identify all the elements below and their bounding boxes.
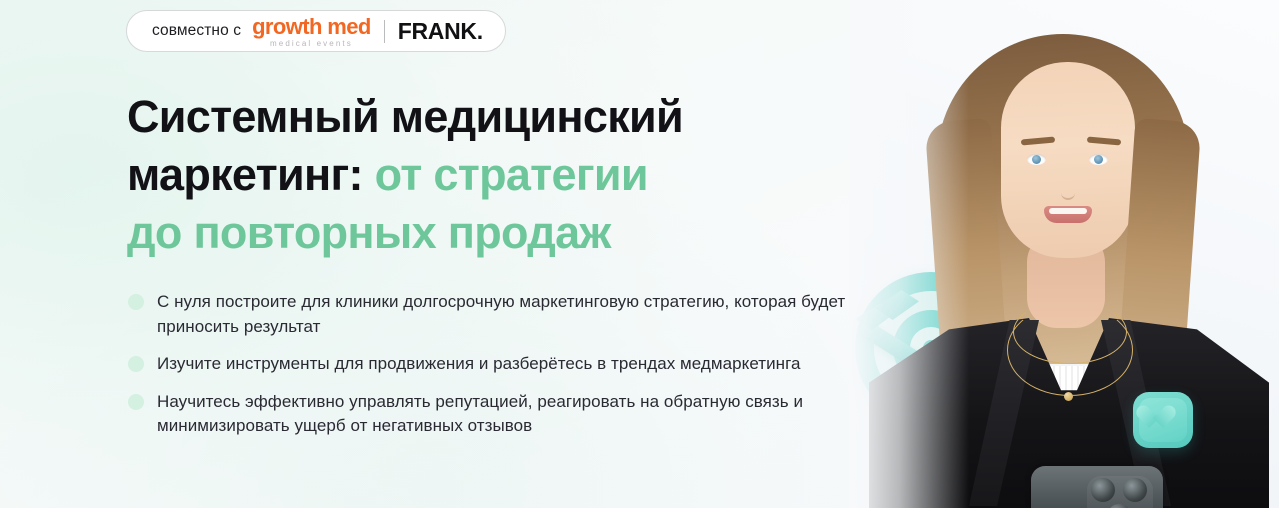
- necklace-lower: [1007, 304, 1133, 396]
- partner-badge[interactable]: совместно с growth med medical events FR…: [126, 10, 506, 52]
- headline-line-2-accent: от стратегии: [375, 149, 648, 200]
- hero-content: совместно с growth med medical events FR…: [126, 0, 866, 508]
- heart-icon: [1149, 406, 1176, 431]
- hero-photo: [849, 0, 1279, 508]
- badge-divider: [384, 20, 385, 43]
- frank-wordmark: FRANK.: [398, 20, 483, 43]
- headline-line-1: Системный медицинский: [127, 91, 683, 142]
- growthmed-tagline: medical events: [270, 40, 353, 48]
- list-item: Изучите инструменты для продвижения и ра…: [128, 352, 858, 377]
- benefit-text: С нуля построите для клиники долгосрочну…: [157, 290, 858, 339]
- smartphone-icon: [1031, 466, 1163, 508]
- partner-prefix-label: совместно с: [152, 22, 241, 40]
- camera-lens: [1091, 478, 1115, 502]
- headline-line-2-black: маркетинг:: [127, 149, 363, 200]
- face: [1001, 62, 1135, 258]
- benefit-text: Научитесь эффективно управлять репутацие…: [157, 390, 858, 439]
- benefits-list: С нуля построите для клиники долгосрочну…: [128, 290, 858, 439]
- nose: [1061, 176, 1075, 200]
- camera-lens: [1123, 478, 1147, 502]
- growthmed-logo: growth med medical events: [252, 16, 371, 48]
- growthmed-wordmark: growth med: [252, 16, 371, 38]
- heart-badge-icon: [1133, 392, 1193, 448]
- page-title: Системный медицинский маркетинг: от стра…: [127, 88, 827, 262]
- list-item: Научитесь эффективно управлять репутацие…: [128, 390, 858, 439]
- teeth: [1049, 208, 1087, 214]
- bullet-dot-icon: [128, 394, 144, 410]
- iris-right: [1094, 155, 1103, 164]
- person-illustration: [849, 0, 1279, 508]
- headline-line-3-accent: до повторных продаж: [127, 207, 611, 258]
- hero-banner: совместно с growth med medical events FR…: [0, 0, 1279, 508]
- necklace-pendant: [1064, 392, 1073, 401]
- bullet-dot-icon: [128, 356, 144, 372]
- list-item: С нуля построите для клиники долгосрочну…: [128, 290, 858, 339]
- bullet-dot-icon: [128, 294, 144, 310]
- iris-left: [1032, 155, 1041, 164]
- benefit-text: Изучите инструменты для продвижения и ра…: [157, 352, 800, 377]
